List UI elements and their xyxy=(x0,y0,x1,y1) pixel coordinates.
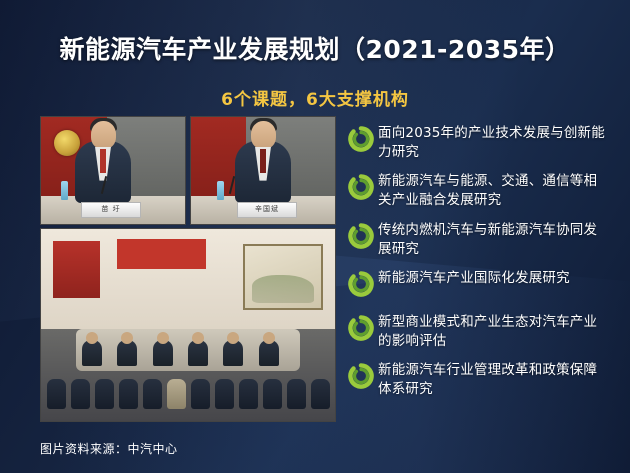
list-item: 新能源汽车行业管理改革和政策保障体系研究 xyxy=(348,361,606,399)
photo-chair xyxy=(215,379,234,409)
photo-chair xyxy=(239,379,258,409)
photo-chair xyxy=(311,379,330,409)
gear-icon xyxy=(348,315,374,341)
photo-attendee xyxy=(259,340,279,366)
list-item-label: 新能源汽车与能源、交通、通信等相关产业融合发展研究 xyxy=(378,172,606,210)
photo-banner xyxy=(117,239,205,270)
photo-nameplate: 苗 圩 xyxy=(81,202,141,218)
photo-chair xyxy=(263,379,282,409)
photo-chair xyxy=(143,379,162,409)
photo-chair xyxy=(287,379,306,409)
photo-attendee xyxy=(153,340,173,366)
photo-attendee xyxy=(82,340,102,366)
gear-icon xyxy=(348,126,374,152)
photo-speaker-right: 辛国斌 xyxy=(190,116,336,225)
list-item: 新能源汽车产业国际化发展研究 xyxy=(348,269,606,303)
photo-chair xyxy=(191,379,210,409)
photo-chair xyxy=(95,379,114,409)
photo-flag xyxy=(53,241,100,299)
list-item-label: 传统内燃机汽车与新能源汽车协同发展研究 xyxy=(378,221,606,259)
photo-emblem xyxy=(54,130,80,156)
slide-root: 新能源汽车产业发展规划（2021-2035年） 6个课题，6大支撑机构 苗 圩 … xyxy=(0,0,630,473)
photo-chair xyxy=(47,379,66,409)
photo-conference-room xyxy=(40,228,336,422)
gear-icon xyxy=(348,174,374,200)
gear-icon xyxy=(348,271,374,297)
list-item: 面向2035年的产业技术发展与创新能力研究 xyxy=(348,124,606,162)
gear-icon xyxy=(348,223,374,249)
source-credit: 图片资料来源：中汽中心 xyxy=(40,440,178,457)
photo-water-bottle xyxy=(217,181,224,200)
photo-attendee xyxy=(223,340,243,366)
bullet-list: 面向2035年的产业技术发展与创新能力研究 新能源汽车与能源、交通、通信等相关产… xyxy=(348,124,606,410)
photo-attendee xyxy=(117,340,137,366)
photo-chair-row xyxy=(47,379,330,409)
page-subtitle: 6个课题，6大支撑机构 xyxy=(0,85,630,110)
photo-person-tie xyxy=(100,149,106,173)
gear-icon xyxy=(348,363,374,389)
photo-person-tie xyxy=(260,149,266,173)
photo-person-head xyxy=(91,121,116,149)
page-title: 新能源汽车产业发展规划（2021-2035年） xyxy=(0,30,630,66)
photo-chair xyxy=(167,379,186,409)
list-item: 新型商业模式和产业生态对汽车产业的影响评估 xyxy=(348,313,606,351)
photo-person xyxy=(75,141,131,203)
list-item-label: 面向2035年的产业技术发展与创新能力研究 xyxy=(378,124,606,162)
list-item-label: 新能源汽车产业国际化发展研究 xyxy=(378,269,570,288)
photo-painting xyxy=(243,244,323,309)
photo-water-bottle xyxy=(61,181,68,200)
photo-chair xyxy=(71,379,90,409)
photo-person xyxy=(235,141,291,203)
photo-attendee xyxy=(188,340,208,366)
list-item: 传统内燃机汽车与新能源汽车协同发展研究 xyxy=(348,221,606,259)
list-item-label: 新能源汽车行业管理改革和政策保障体系研究 xyxy=(378,361,606,399)
photo-speaker-left: 苗 圩 xyxy=(40,116,186,225)
list-item: 新能源汽车与能源、交通、通信等相关产业融合发展研究 xyxy=(348,172,606,210)
photo-person-head xyxy=(251,121,276,149)
photo-chair xyxy=(119,379,138,409)
list-item-label: 新型商业模式和产业生态对汽车产业的影响评估 xyxy=(378,313,606,351)
photo-nameplate: 辛国斌 xyxy=(237,202,297,218)
